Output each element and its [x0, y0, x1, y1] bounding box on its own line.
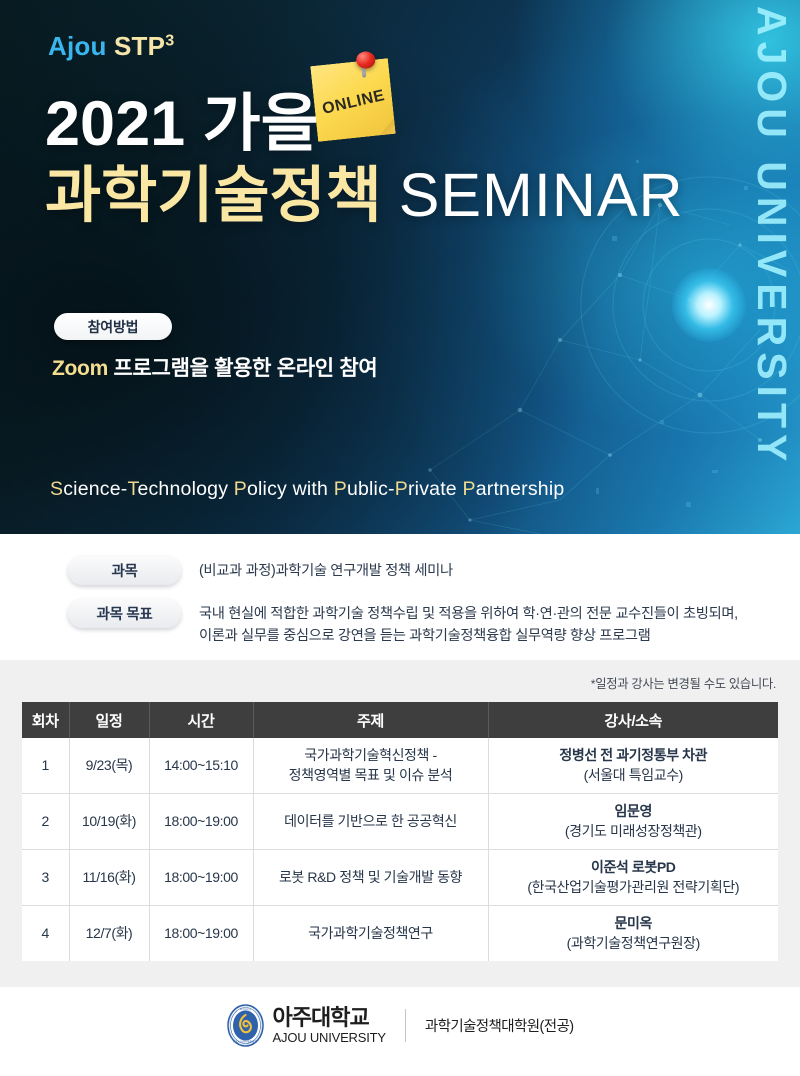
tagline-segment-2: T	[127, 478, 137, 500]
course-subject-value: (비교과 과정)과학기술 연구개발 정책 세미나	[199, 556, 453, 583]
cell-speaker: 이준석 로봇PD(한국산업기술평가관리원 전략기획단)	[488, 850, 778, 906]
cell-time: 14:00~15:10	[149, 738, 253, 794]
university-name-block: 아주대학교 AJOU UNIVERSITY	[273, 1007, 386, 1044]
course-goal-value: 국내 현실에 적합한 과학기술 정책수립 및 적용을 위하여 학·연·관의 전문…	[199, 599, 738, 647]
pushpin-icon	[354, 51, 377, 74]
cell-session-no: 1	[22, 738, 69, 794]
cell-session-no: 2	[22, 794, 69, 850]
department-name: 과학기술정책대학원(전공)	[425, 1015, 574, 1036]
hero-banner: AJOU UNIVERSITY Ajou STP3 2021 가을 과학기술정책…	[0, 0, 800, 534]
schedule-table: 회차 일정 시간 주제 강사/소속 19/23(목)14:00~15:10국가과…	[22, 702, 778, 961]
table-row: 19/23(목)14:00~15:10국가과학기술혁신정책 - 정책영역별 목표…	[22, 738, 778, 794]
tagline-segment-5: olicy with	[247, 478, 334, 500]
poster-title-english: SEMINAR	[399, 161, 684, 229]
tagline-segment-11: artnership	[476, 478, 565, 500]
brand-superscript: 3	[165, 31, 174, 49]
table-row: 210/19(화)18:00~19:00데이터를 기반으로 한 공공혁신임문영(…	[22, 794, 778, 850]
cell-time: 18:00~19:00	[149, 906, 253, 962]
svg-text:AJOU UNIVERSITY: AJOU UNIVERSITY	[233, 1040, 258, 1044]
cell-date: 12/7(화)	[69, 906, 149, 962]
cell-session-no: 4	[22, 906, 69, 962]
cell-topic: 국가과학기술정책연구	[253, 906, 488, 962]
footer-divider	[405, 1009, 406, 1042]
ajou-university-seal-icon: AJOU UNIVERSITY 아주대학교	[227, 1004, 264, 1047]
join-method-description: Zoom 프로그램을 활용한 온라인 참여	[52, 352, 377, 382]
join-method-badge: 참여방법	[54, 313, 172, 340]
tagline-segment-3: echnology	[137, 478, 233, 500]
schedule-table-header-row: 회차 일정 시간 주제 강사/소속	[22, 702, 778, 738]
zoom-highlight-text: Zoom	[52, 357, 108, 380]
online-sticky-note: ONLINE	[310, 58, 396, 142]
course-info-row: 과목 (비교과 과정)과학기술 연구개발 정책 세미나	[0, 556, 800, 585]
cell-session-no: 3	[22, 850, 69, 906]
speaker-organization: (서울대 특임교수)	[490, 766, 778, 785]
course-goal-row: 과목 목표 국내 현실에 적합한 과학기술 정책수립 및 적용을 위하여 학·연…	[0, 599, 800, 647]
speaker-name: 이준석 로봇PD	[490, 858, 778, 877]
brand-primary-text: Ajou	[48, 31, 107, 61]
course-info-section: 과목 (비교과 과정)과학기술 연구개발 정책 세미나 과목 목표 국내 현실에…	[0, 534, 800, 660]
university-name-korean: 아주대학교	[273, 1007, 386, 1029]
cell-date: 11/16(화)	[69, 850, 149, 906]
cell-speaker: 임문영(경기도 미래성장정책관)	[488, 794, 778, 850]
speaker-name: 정병선 전 과기정통부 차관	[490, 746, 778, 765]
english-tagline: Science-Technology Policy with Public-Pr…	[50, 478, 564, 501]
tagline-segment-1: cience-	[63, 478, 127, 500]
university-name-english: AJOU UNIVERSITY	[273, 1031, 386, 1044]
tagline-segment-6: P	[334, 478, 347, 500]
join-method-rest-text: 프로그램을 활용한 온라인 참여	[108, 357, 377, 380]
column-header-time: 시간	[149, 702, 253, 738]
brand-secondary-text: STP3	[114, 31, 174, 61]
tagline-segment-9: rivate	[408, 478, 463, 500]
tagline-segment-0: S	[50, 478, 63, 500]
tagline-segment-4: P	[234, 478, 247, 500]
pushpin-head	[356, 51, 376, 69]
speaker-name: 임문영	[490, 802, 778, 821]
course-subject-label: 과목	[68, 556, 181, 585]
tagline-segment-8: P	[395, 478, 408, 500]
cell-time: 18:00~19:00	[149, 794, 253, 850]
cell-speaker: 정병선 전 과기정통부 차관(서울대 특임교수)	[488, 738, 778, 794]
side-vertical-university-text: AJOU UNIVERSITY	[744, 0, 800, 534]
speaker-organization: (한국산업기술평가관리원 전략기획단)	[490, 878, 778, 897]
cell-speaker: 문미옥(과학기술정책연구원장)	[488, 906, 778, 962]
tagline-segment-10: P	[462, 478, 475, 500]
brand-lockup: Ajou STP3	[48, 31, 174, 62]
poster-title-korean: 과학기술정책	[45, 161, 382, 229]
cell-time: 18:00~19:00	[149, 850, 253, 906]
cell-topic: 국가과학기술혁신정책 - 정책영역별 목표 및 이슈 분석	[253, 738, 488, 794]
table-row: 412/7(화)18:00~19:00국가과학기술정책연구문미옥(과학기술정책연…	[22, 906, 778, 962]
column-header-speaker: 강사/소속	[488, 702, 778, 738]
svg-text:아주대학교: 아주대학교	[239, 1007, 251, 1011]
course-goal-label: 과목 목표	[68, 599, 181, 628]
page-footer: AJOU UNIVERSITY 아주대학교 아주대학교 AJOU UNIVERS…	[0, 987, 800, 1076]
glow-accent-decoration	[672, 268, 746, 342]
table-row: 311/16(화)18:00~19:00로봇 R&D 정책 및 기술개발 동향이…	[22, 850, 778, 906]
poster-title-line-2: 과학기술정책 SEMINAR	[45, 145, 684, 234]
cell-date: 9/23(목)	[69, 738, 149, 794]
schedule-section: *일정과 강사는 변경될 수도 있습니다. 회차 일정 시간 주제 강사/소속 …	[0, 660, 800, 987]
cell-topic: 데이터를 기반으로 한 공공혁신	[253, 794, 488, 850]
speaker-name: 문미옥	[490, 914, 778, 933]
column-header-date: 일정	[69, 702, 149, 738]
speaker-organization: (경기도 미래성장정책관)	[490, 822, 778, 841]
cell-date: 10/19(화)	[69, 794, 149, 850]
speaker-organization: (과학기술정책연구원장)	[490, 934, 778, 953]
column-header-no: 회차	[22, 702, 69, 738]
column-header-topic: 주제	[253, 702, 488, 738]
tagline-segment-7: ublic-	[347, 478, 395, 500]
schedule-disclaimer-note: *일정과 강사는 변경될 수도 있습니다.	[22, 674, 776, 692]
cell-topic: 로봇 R&D 정책 및 기술개발 동향	[253, 850, 488, 906]
